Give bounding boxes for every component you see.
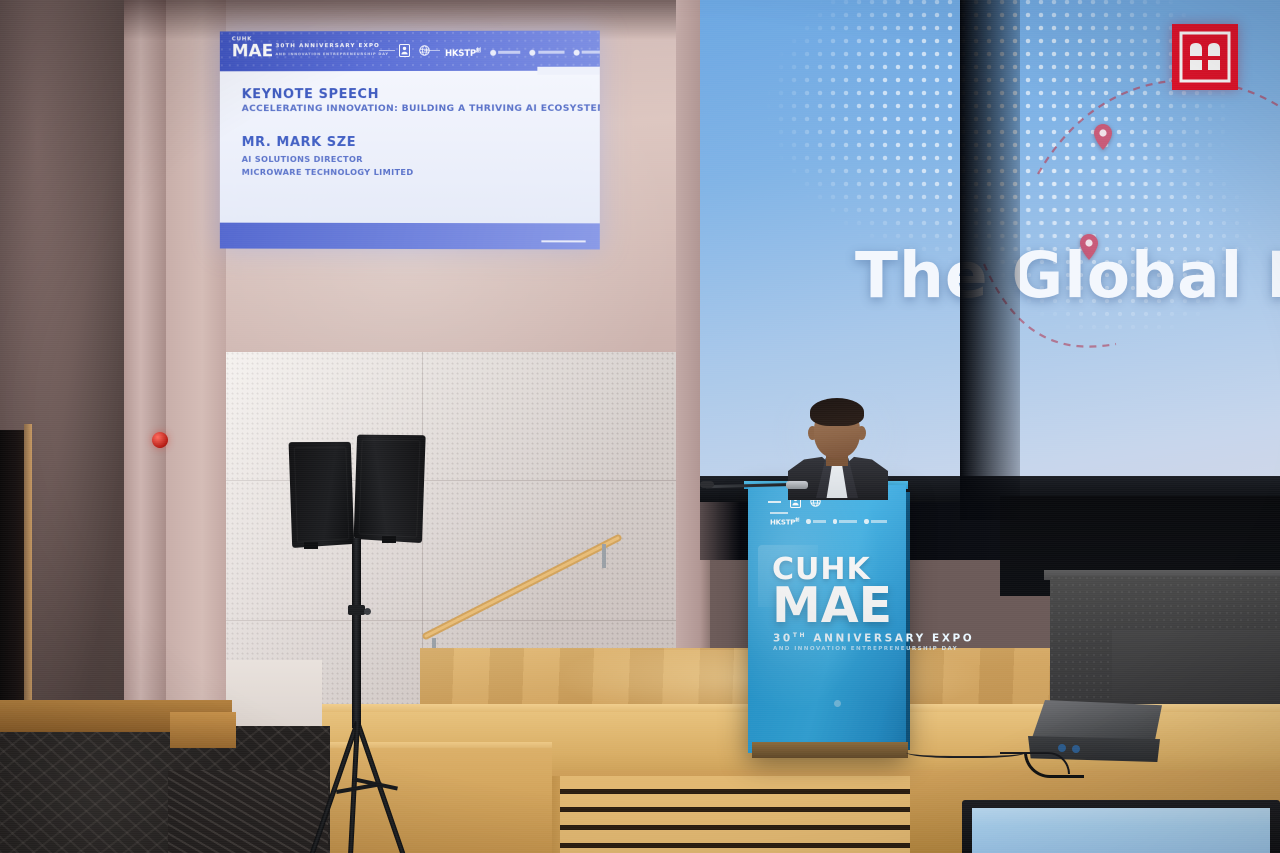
projected-slide: CUHK MAE 30TH ANNIVERSARY EXPO AND INNOV… <box>220 31 600 250</box>
slide-speaker-org: MICROWARE TECHNOLOGY LIMITED <box>242 167 414 177</box>
sponsor-hkstp-logo: HKSTP創 <box>445 47 481 59</box>
slide-speaker-role: AI SOLUTIONS DIRECTOR <box>242 154 363 164</box>
sponsor-logo-1 <box>490 50 521 56</box>
confidence-monitor-screen <box>972 808 1270 853</box>
globe-icon <box>419 44 430 57</box>
wall-mid-beige <box>166 0 226 770</box>
slide-expo-subline: AND INNOVATION ENTREPRENEURSHIP DAY <box>275 52 388 56</box>
pa-speaker-stand <box>286 430 432 850</box>
lectern-graphic-swoosh <box>758 545 818 607</box>
sponsor-hkstp-logo: HKSTP創 <box>770 517 799 526</box>
lectern-brand-cuhk: CUHK <box>772 555 871 585</box>
lectern-sponsor-row: HKSTP創 <box>770 517 887 526</box>
pa-loudspeaker-right <box>354 435 426 543</box>
speaker-hair <box>810 398 864 426</box>
slide-expo-line: 30TH ANNIVERSARY EXPO <box>275 43 379 49</box>
map-pin-icon-1 <box>1094 124 1112 150</box>
slide-header-notch <box>537 67 599 75</box>
sponsor-logo-1 <box>806 519 826 524</box>
backdrop-headline: The Global I <box>855 239 1280 312</box>
tripod-pole <box>352 538 361 728</box>
stage-photo-scene: The Global I CUHK MAE 30TH ANNIVERSARY E… <box>0 0 1280 853</box>
wall-pillar <box>124 0 166 760</box>
handrail <box>418 530 634 650</box>
tripod-height-collar[interactable] <box>348 605 365 615</box>
person-badge-icon <box>399 44 410 57</box>
lectern-divider <box>770 512 788 514</box>
slide-header-divider-1 <box>379 50 395 51</box>
lectern-brand-mae: MAE <box>772 580 892 632</box>
dash-icon <box>768 501 781 503</box>
slide-header-icons <box>399 44 430 57</box>
pa-loudspeaker-left <box>289 442 355 548</box>
wood-baseboard-corner <box>170 712 236 748</box>
slide-footer-accent <box>541 240 585 242</box>
route-arc-1 <box>1030 56 1280 186</box>
fire-alarm-light-icon <box>152 432 168 448</box>
slide-header-bar: CUHK MAE 30TH ANNIVERSARY EXPO AND INNOV… <box>220 31 600 72</box>
slide-brand-cuhk: CUHK <box>232 36 273 43</box>
curtain-right-edge <box>960 0 1020 520</box>
sponsor-logo-2 <box>833 519 858 524</box>
stage-slat-vents <box>560 776 910 853</box>
dark-platform-step-2 <box>1112 630 1280 710</box>
door-frame-left <box>24 424 32 724</box>
microphone-clip <box>786 481 808 489</box>
speaker-person <box>786 398 890 494</box>
sponsor-logo-2 <box>529 50 564 56</box>
slide-footer-bar <box>220 223 600 250</box>
stage-floor-cable-2 <box>906 744 1026 758</box>
lectern-day-line: AND INNOVATION ENTREPRENEURSHIP DAY <box>773 646 958 652</box>
doorway-left <box>0 430 26 720</box>
pa-speaker-foot-right <box>382 536 396 543</box>
slide-header-divider-2 <box>424 50 440 51</box>
sponsor-logo-3 <box>864 519 887 524</box>
slide-talk-title: ACCELERATING INNOVATION: BUILDING A THRI… <box>242 103 600 114</box>
slide-section-label: KEYNOTE SPEECH <box>242 87 379 102</box>
slide-brand-mae: MAE <box>232 43 273 60</box>
pa-speaker-foot-left <box>304 542 318 549</box>
lectern-glint <box>834 700 841 707</box>
slide-speaker-name: MR. MARK SZE <box>242 135 357 150</box>
tripod-adjust-knob[interactable] <box>364 608 371 615</box>
lectern-base <box>752 742 908 758</box>
slide-brand-lockup: CUHK MAE <box>232 36 273 60</box>
slide-sponsor-row: HKSTP創 <box>445 47 600 59</box>
gooseneck-microphone-capsule <box>700 481 714 488</box>
lectern-front-panel[interactable]: HKSTP創 CUHK MAE 30TH ANNIVERSARY EXPO AN… <box>748 485 906 753</box>
lectern-anniversary-line: 30TH ANNIVERSARY EXPO <box>773 632 974 645</box>
wedge-monitor-jack <box>1058 744 1066 752</box>
sponsor-logo-3 <box>573 50 600 56</box>
microware-m-logo <box>1172 24 1238 90</box>
